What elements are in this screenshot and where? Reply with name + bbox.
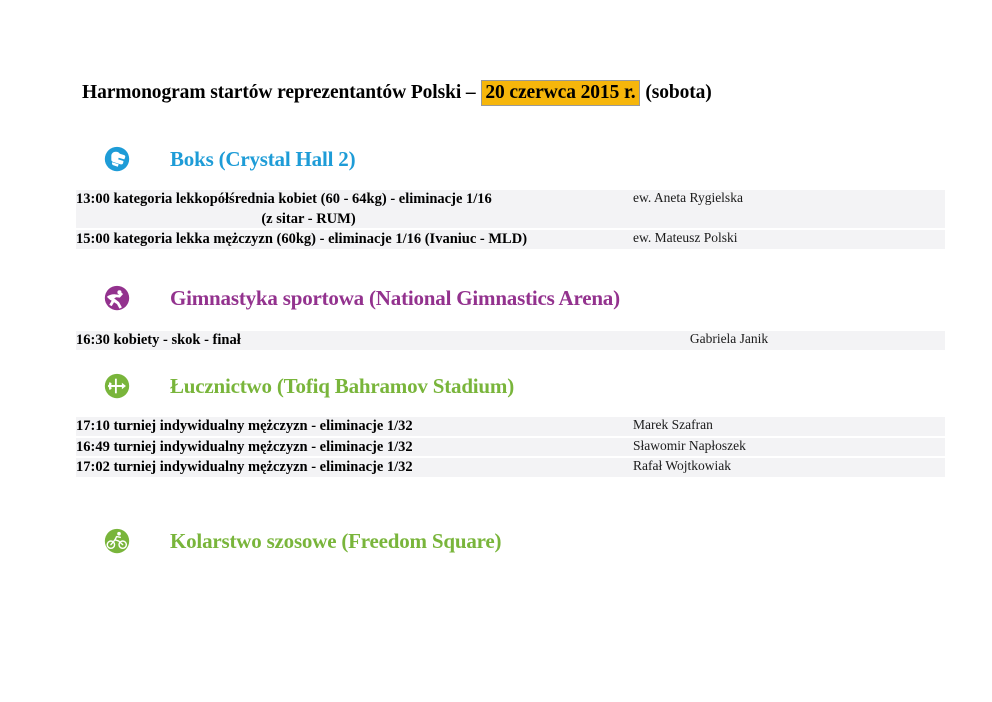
event-text: 16:49 turniej indywidualny mężczyzn - el… xyxy=(76,439,413,455)
athlete-cell: Rafał Wojtkowiak xyxy=(633,458,945,477)
section-title-boks: Boks (Crystal Hall 2) xyxy=(170,147,355,172)
boxing-glove-icon xyxy=(104,146,130,172)
section-heading-lucznictwo: Łucznictwo (Tofiq Bahramov Stadium) xyxy=(104,373,514,399)
event-subtext: (z sitar - RUM) xyxy=(76,210,633,229)
event-text: 13:00 kategoria lekkopółśrednia kobiet (… xyxy=(76,191,492,207)
section-title-lucznictwo: Łucznictwo (Tofiq Bahramov Stadium) xyxy=(170,374,514,399)
section-title-kolarstwo: Kolarstwo szosowe (Freedom Square) xyxy=(170,529,501,554)
event-cell: 17:10 turniej indywidualny mężczyzn - el… xyxy=(76,417,633,438)
page-title: Harmonogram startów reprezentantów Polsk… xyxy=(82,82,712,104)
athlete-cell: Marek Szafran xyxy=(633,417,945,438)
table-row: 13:00 kategoria lekkopółśrednia kobiet (… xyxy=(76,190,945,230)
schedule-table-gimnastyka: 16:30 kobiety - skok - finał Gabriela Ja… xyxy=(76,331,945,350)
athlete-cell: ew. Aneta Rygielska xyxy=(633,190,945,230)
cycling-icon xyxy=(104,528,130,554)
event-cell: 13:00 kategoria lekkopółśrednia kobiet (… xyxy=(76,190,633,230)
event-text: 15:00 kategoria lekka mężczyzn (60kg) - … xyxy=(76,231,527,247)
gymnastics-icon xyxy=(104,285,130,311)
title-prefix: Harmonogram startów reprezentantów Polsk… xyxy=(82,82,480,103)
schedule-table-boks: 13:00 kategoria lekkopółśrednia kobiet (… xyxy=(76,190,945,249)
section-heading-gimnastyka: Gimnastyka sportowa (National Gimnastics… xyxy=(104,285,620,311)
event-text: 17:10 turniej indywidualny mężczyzn - el… xyxy=(76,418,413,434)
event-cell: 15:00 kategoria lekka mężczyzn (60kg) - … xyxy=(76,230,633,249)
table-row: 17:02 turniej indywidualny mężczyzn - el… xyxy=(76,458,945,477)
highlighted-date: 20 czerwca 2015 r. xyxy=(481,80,639,106)
document-page: Harmonogram startów reprezentantów Polsk… xyxy=(0,0,992,702)
athlete-cell: Sławomir Napłoszek xyxy=(633,438,945,459)
event-text: 16:30 kobiety - skok - finał xyxy=(76,332,241,348)
archery-icon xyxy=(104,373,130,399)
table-row: 17:10 turniej indywidualny mężczyzn - el… xyxy=(76,417,945,438)
section-heading-kolarstwo: Kolarstwo szosowe (Freedom Square) xyxy=(104,528,501,554)
title-suffix: (sobota) xyxy=(641,82,712,103)
event-cell: 16:30 kobiety - skok - finał xyxy=(76,331,633,350)
event-cell: 16:49 turniej indywidualny mężczyzn - el… xyxy=(76,438,633,459)
table-row: 16:30 kobiety - skok - finał Gabriela Ja… xyxy=(76,331,945,350)
athlete-cell: ew. Mateusz Polski xyxy=(633,230,945,249)
schedule-table-lucznictwo: 17:10 turniej indywidualny mężczyzn - el… xyxy=(76,417,945,477)
table-row: 16:49 turniej indywidualny mężczyzn - el… xyxy=(76,438,945,459)
event-cell: 17:02 turniej indywidualny mężczyzn - el… xyxy=(76,458,633,477)
athlete-cell: Gabriela Janik xyxy=(633,331,945,350)
table-row: 15:00 kategoria lekka mężczyzn (60kg) - … xyxy=(76,230,945,249)
section-title-gimnastyka: Gimnastyka sportowa (National Gimnastics… xyxy=(170,286,620,311)
event-text: 17:02 turniej indywidualny mężczyzn - el… xyxy=(76,459,413,475)
section-heading-boks: Boks (Crystal Hall 2) xyxy=(104,146,355,172)
